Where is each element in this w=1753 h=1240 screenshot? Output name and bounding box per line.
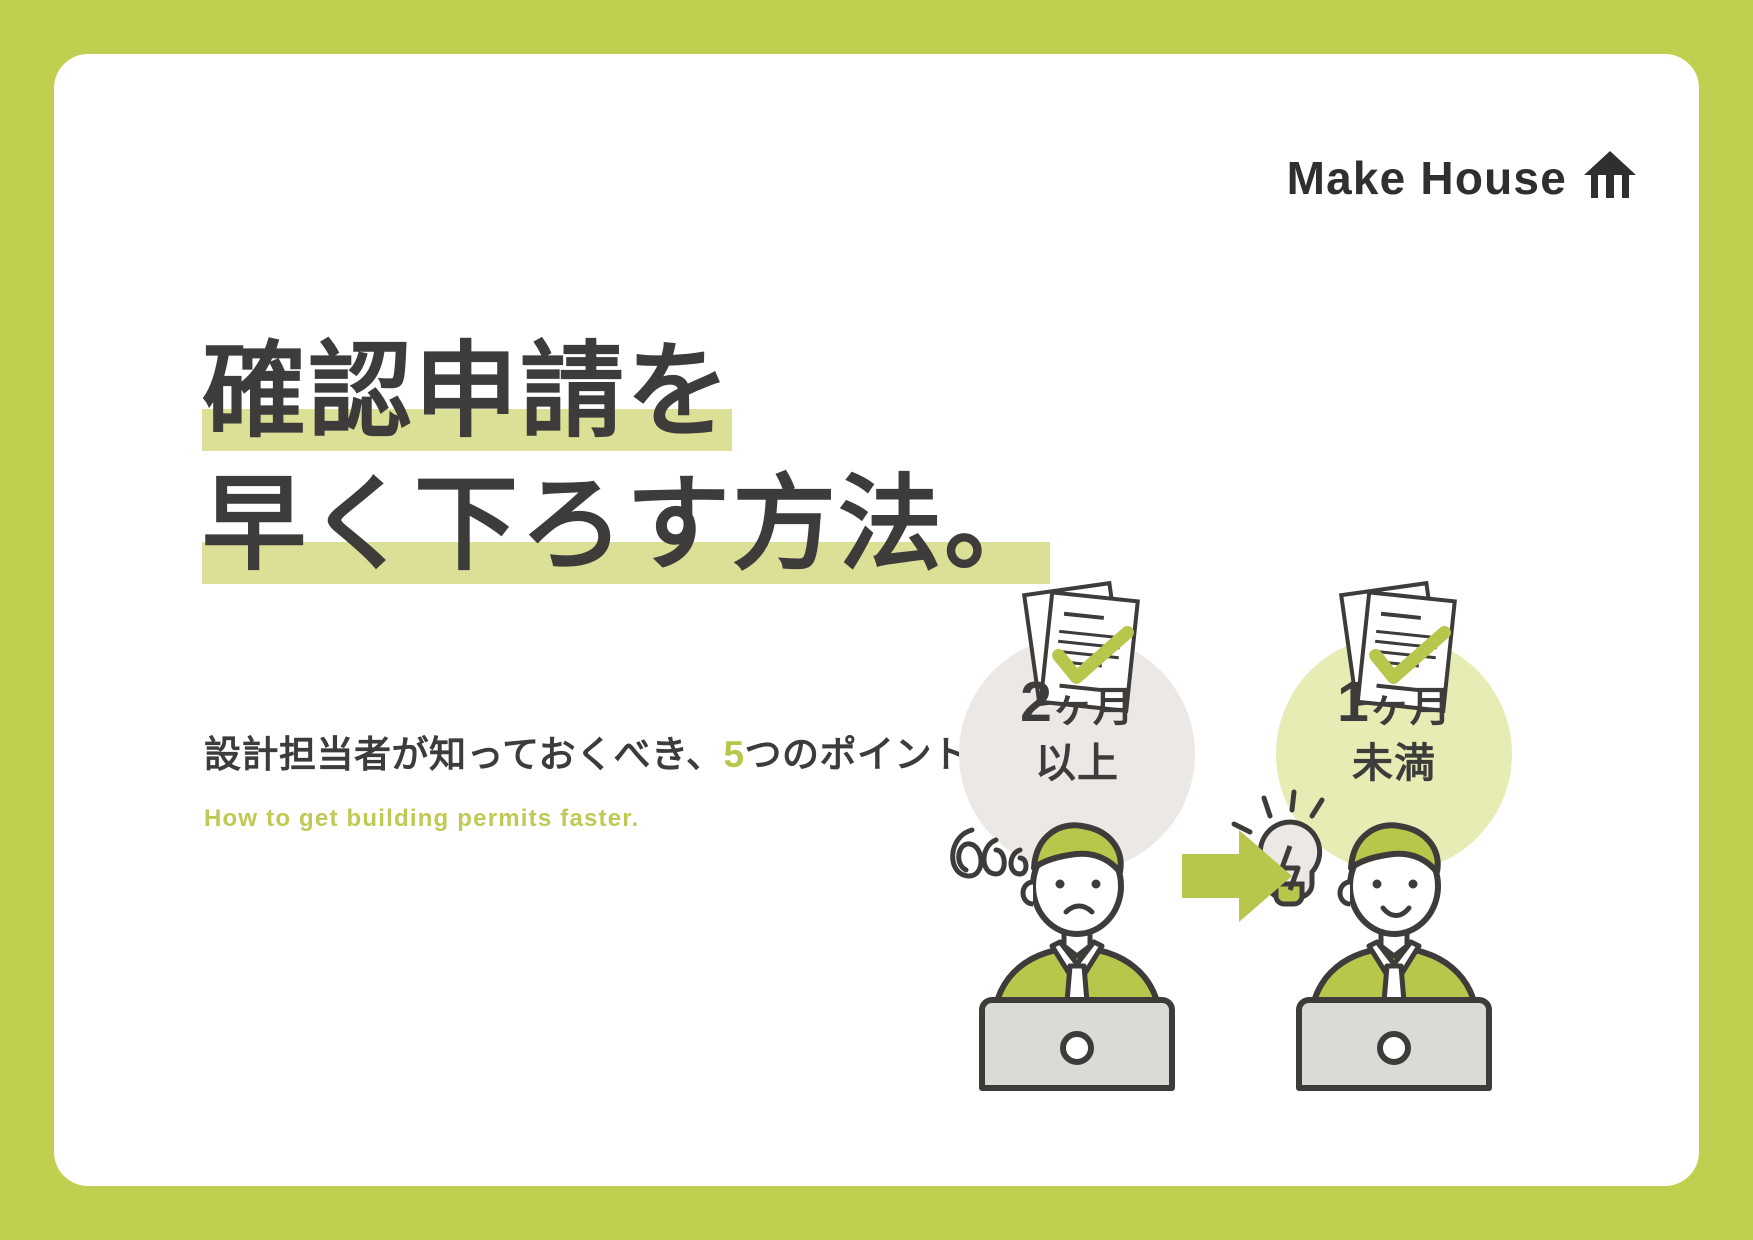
before-duration-sub: 以上 [982,743,1172,784]
subtitle-english: How to get building permits faster. [204,805,639,833]
brand-logo: Make House [1287,150,1637,205]
subtitle-japanese: 設計担当者が知っておくべき、5つのポイント [204,724,970,778]
after-duration-unit: ヶ月 [1369,684,1451,730]
slide-card: Make House 確認申請を 早く下ろす方法。 設計担当者が知っておくべき、… [54,54,1699,1186]
headline-line-2: 早く下ろす方法。 [202,459,1050,592]
before-duration-unit: ヶ月 [1052,684,1134,730]
before-duration-number: 2 [1020,670,1052,734]
illustration-before-after: 2ヶ月 以上 1ヶ月 未満 [934,554,1554,1114]
illustration-svg [934,554,1554,1114]
after-duration-number: 1 [1337,670,1369,734]
after-duration-sub: 未満 [1299,743,1489,784]
after-duration-label: 1ヶ月 未満 [1299,674,1489,784]
slide-root: Make House 確認申請を 早く下ろす方法。 設計担当者が知っておくべき、… [0,0,1753,1240]
subtitle-jp-before: 設計担当者が知っておくべき、 [204,734,723,775]
headline-line-1: 確認申請を [202,326,732,459]
after-person [1299,825,1489,1088]
after-duration-main: 1ヶ月 [1299,674,1489,731]
before-duration-main: 2ヶ月 [982,674,1172,731]
subtitle-jp-accent: 5 [723,734,744,775]
house-icon [1583,150,1637,205]
before-duration-label: 2ヶ月 以上 [982,674,1172,784]
page-title: 確認申請を 早く下ろす方法。 [202,326,1050,592]
logo-wordmark: Make House [1287,151,1567,205]
